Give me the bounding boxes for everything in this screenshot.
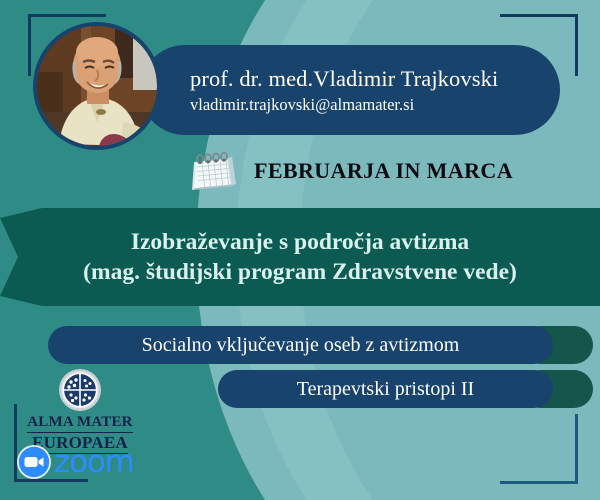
calendar-icon xyxy=(186,146,240,196)
alma-mater-line-1: ALMA MATER xyxy=(27,415,132,433)
course-pill-1[interactable]: Socialno vključevanje oseb z avtizmom xyxy=(48,326,593,364)
banner-line-1: Izobraževanje s področja avtizma xyxy=(131,227,469,257)
speaker-avatar xyxy=(33,22,161,150)
course-pill-2-label: Terapevtski pristopi II xyxy=(297,379,474,399)
zoom-camera-icon xyxy=(16,444,52,480)
banner-line-2: (mag. študijski program Zdravstvene vede… xyxy=(83,257,517,287)
course-pill-1-label: Socialno vključevanje oseb z avtizmom xyxy=(142,335,460,355)
zoom-wordmark: zoom xyxy=(54,447,134,478)
date-text: FEBRUARJA IN MARCA xyxy=(254,158,513,184)
main-banner: Izobraževanje s področja avtizma (mag. š… xyxy=(0,208,600,306)
date-row: FEBRUARJA IN MARCA xyxy=(186,146,513,196)
alma-mater-logo: ALMA MATER EUROPAEA xyxy=(18,368,142,454)
speaker-name: prof. dr. med.Vladimir Trajkovski xyxy=(190,66,560,91)
poster-canvas: prof. dr. med.Vladimir Trajkovski vladim… xyxy=(0,0,600,500)
zoom-logo: zoom xyxy=(16,444,134,480)
banner-text: Izobraževanje s področja avtizma (mag. š… xyxy=(0,208,600,306)
course-pill-2[interactable]: Terapevtski pristopi II xyxy=(218,370,593,408)
speaker-email: vladimir.trajkovski@almamater.si xyxy=(190,96,560,114)
course-pill-2-body[interactable]: Terapevtski pristopi II xyxy=(218,370,553,408)
corner-bracket-bottom-right xyxy=(500,414,578,484)
speaker-portrait-icon xyxy=(37,26,157,146)
course-pill-1-body[interactable]: Socialno vključevanje oseb z avtizmom xyxy=(48,326,553,364)
speaker-name-plate: prof. dr. med.Vladimir Trajkovski vladim… xyxy=(140,45,560,135)
alma-mater-seal-icon xyxy=(58,368,102,412)
